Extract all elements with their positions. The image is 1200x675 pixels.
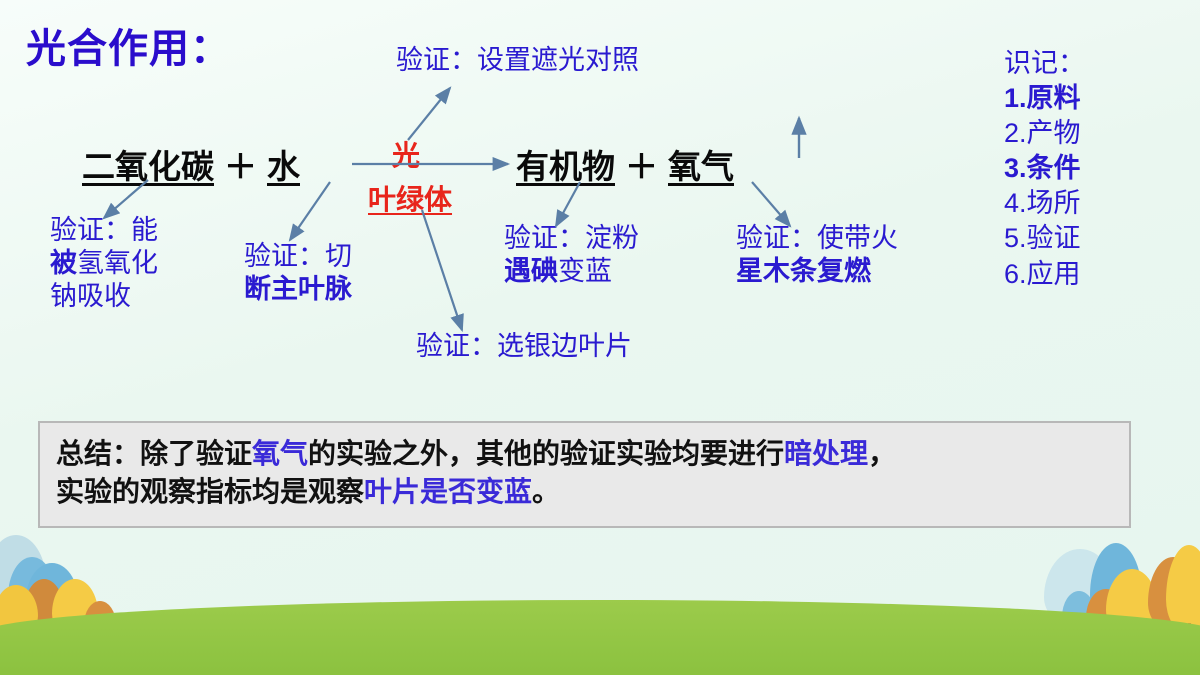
annotation-carbon-dioxide-text-3: 钠吸收	[50, 281, 131, 311]
arrow-chloroplast-to-note	[422, 210, 462, 330]
annotation-oxygen-line-2: 星木条复燃	[736, 255, 898, 288]
memo-list: 识记： 1.原料 2.产物 3.条件 4.场所 5.验证 6.应用	[1004, 46, 1192, 292]
memo-item-verification: 5.验证	[1004, 221, 1192, 256]
condition-light: 光	[392, 134, 420, 174]
arrow-oxygen-to-note	[752, 182, 790, 226]
summary-text-1: 总结：除了验证	[56, 439, 252, 470]
memo-item-raw-material: 1.原料	[1004, 81, 1192, 116]
reactant-carbon-dioxide: 二氧化碳	[82, 148, 214, 185]
page-title: 光合作用：	[26, 16, 231, 74]
condition-chloroplast: 叶绿体	[368, 178, 452, 218]
grass-hill	[0, 600, 1200, 675]
annotation-water-text-1: 验证：切	[244, 241, 352, 271]
equation-left-side: 二氧化碳＋水	[82, 140, 300, 188]
memo-item-condition: 3.条件	[1004, 151, 1192, 186]
tree-icon	[1106, 569, 1158, 635]
annotation-chloroplast-text: 验证：选银边叶片	[416, 331, 632, 361]
reactant-water: 水	[267, 148, 300, 185]
tree-icon	[1148, 557, 1198, 631]
annotation-oxygen-line-1: 验证：使带火	[736, 222, 898, 255]
annotation-organic-matter-emphasis: 遇碘	[504, 256, 558, 286]
annotation-organic-matter: 验证：淀粉 遇碘变蓝	[504, 222, 639, 288]
tree-icon	[24, 579, 64, 631]
annotation-chloroplast: 验证：选银边叶片	[416, 330, 632, 363]
equation-right-side: 有机物＋氧气	[516, 140, 734, 188]
annotation-light-control: 验证：设置遮光对照	[396, 44, 639, 77]
memo-heading: 识记：	[1004, 46, 1192, 81]
tree-icon	[84, 601, 116, 639]
product-oxygen: 氧气	[668, 148, 734, 185]
annotation-water: 验证：切 断主叶脉	[244, 240, 352, 306]
annotation-water-line-1: 验证：切	[244, 240, 352, 273]
tree-icon	[8, 557, 56, 621]
annotation-water-line-2: 断主叶脉	[244, 273, 352, 306]
tree-icon	[1090, 543, 1142, 627]
memo-item-product: 2.产物	[1004, 116, 1192, 151]
summary-text-5: 。	[532, 477, 560, 508]
arrow-organic-to-note	[556, 182, 580, 226]
summary-line-2: 实验的观察指标均是观察叶片是否变蓝。	[56, 474, 1113, 512]
tree-icon	[26, 563, 78, 623]
annotation-organic-matter-text-1: 验证：淀粉	[504, 223, 639, 253]
annotation-organic-matter-line-2: 遇碘变蓝	[504, 255, 639, 288]
tree-icon	[1086, 589, 1126, 635]
tree-icon	[1166, 545, 1200, 633]
annotation-carbon-dioxide-text-1: 验证：能	[50, 215, 158, 245]
annotation-organic-matter-line-1: 验证：淀粉	[504, 222, 639, 255]
annotation-carbon-dioxide-line-3: 钠吸收	[50, 280, 158, 313]
annotation-organic-matter-text-2: 变蓝	[558, 256, 612, 286]
equation-plus-right: ＋	[615, 148, 668, 185]
product-organic-matter: 有机物	[516, 148, 615, 185]
annotation-carbon-dioxide: 验证：能 被氢氧化 钠吸收	[50, 214, 158, 313]
annotation-oxygen-text-1: 验证：使带火	[736, 223, 898, 253]
summary-text-2: 的实验之外，其他的验证实验均要进行	[308, 439, 784, 470]
tree-icon	[1044, 549, 1116, 627]
decorative-scenery	[0, 535, 1200, 675]
slide-canvas: 光合作用： 验证：设置遮光对照 二氧化碳＋水 光 叶绿体 有机物＋氧气 验证：能…	[0, 0, 1200, 675]
arrow-water-to-note	[290, 182, 330, 240]
tree-icon	[0, 535, 46, 609]
summary-line-1: 总结：除了验证氧气的实验之外，其他的验证实验均要进行暗处理，	[56, 436, 1113, 474]
annotation-light-control-text: 验证：设置遮光对照	[396, 45, 639, 75]
annotation-carbon-dioxide-text-2: 氢氧化	[77, 248, 158, 278]
tree-icon	[0, 585, 38, 635]
memo-item-application: 6.应用	[1004, 257, 1192, 292]
summary-highlight-leaf-blue: 叶片是否变蓝	[364, 477, 532, 508]
summary-highlight-dark-treatment: 暗处理	[784, 439, 868, 470]
summary-highlight-oxygen: 氧气	[252, 439, 308, 470]
tree-icon	[52, 579, 98, 635]
summary-text-3: ，	[868, 439, 896, 470]
annotation-water-emphasis: 断主叶脉	[244, 274, 352, 304]
annotation-oxygen-emphasis: 星木条复燃	[736, 256, 871, 286]
annotation-carbon-dioxide-line-2: 被氢氧化	[50, 247, 158, 280]
annotation-oxygen: 验证：使带火 星木条复燃	[736, 222, 898, 288]
annotation-carbon-dioxide-line-1: 验证：能	[50, 214, 158, 247]
equation-plus-left: ＋	[214, 148, 267, 185]
annotation-carbon-dioxide-emphasis: 被	[50, 248, 77, 278]
summary-box: 总结：除了验证氧气的实验之外，其他的验证实验均要进行暗处理， 实验的观察指标均是…	[38, 421, 1131, 528]
memo-item-location: 4.场所	[1004, 186, 1192, 221]
arrow-light-to-control	[408, 88, 450, 140]
tree-icon	[1062, 591, 1096, 633]
summary-text-4: 实验的观察指标均是观察	[56, 477, 364, 508]
